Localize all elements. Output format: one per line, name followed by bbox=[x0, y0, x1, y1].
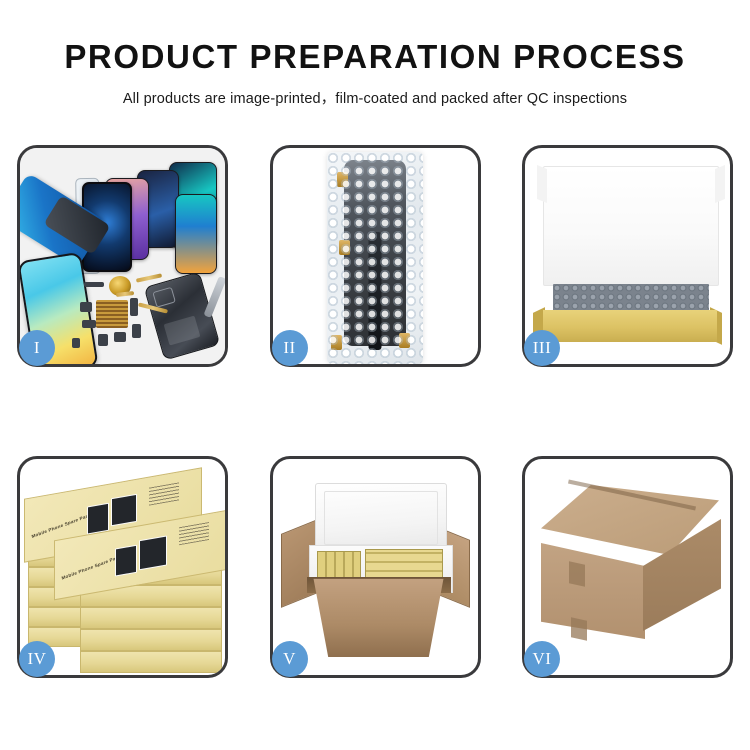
stacked-box-r3 bbox=[80, 607, 222, 629]
phone-parts-scene bbox=[20, 148, 225, 364]
box-window-upper-1 bbox=[87, 503, 109, 535]
step-badge-2: II bbox=[272, 330, 308, 366]
white-foam-lid bbox=[543, 166, 719, 286]
carton-front-face bbox=[541, 543, 645, 639]
box-label-lower: Mobile Phone Spare Parts bbox=[61, 554, 122, 581]
box-text-lines-upper bbox=[149, 482, 179, 505]
process-step-2: II bbox=[270, 145, 481, 367]
step-badge-4: IV bbox=[19, 641, 55, 677]
page-title: PRODUCT PREPARATION PROCESS bbox=[0, 40, 750, 75]
stacked-box-r5 bbox=[80, 651, 222, 673]
step-badge-5: V bbox=[272, 641, 308, 677]
bubble-wrap-overlay bbox=[327, 152, 423, 364]
carton-tape-lower bbox=[571, 617, 587, 640]
flex-cable-1 bbox=[136, 273, 162, 282]
box-window-lower-1 bbox=[115, 545, 137, 577]
flex-cable-3 bbox=[116, 291, 134, 297]
logic-board-chip bbox=[96, 300, 128, 328]
part-button bbox=[98, 334, 108, 346]
process-step-1: I bbox=[17, 145, 228, 367]
part-sim-tray bbox=[132, 324, 141, 338]
bubble-wrapped-contents bbox=[553, 284, 709, 312]
step-badge-1: I bbox=[19, 330, 55, 366]
process-step-6: VI bbox=[522, 456, 733, 678]
part-camera bbox=[80, 302, 92, 312]
carton-tape-upper bbox=[569, 561, 585, 586]
box-window-lower-2 bbox=[139, 535, 167, 570]
process-step-4: Mobile Phone Spare Parts Mobile Phone Sp… bbox=[17, 456, 228, 678]
step-3-image bbox=[525, 148, 730, 364]
process-step-3: III bbox=[522, 145, 733, 367]
inner-box-scene bbox=[525, 148, 730, 364]
infographic-page: PRODUCT PREPARATION PROCESS All products… bbox=[0, 0, 750, 750]
header: PRODUCT PREPARATION PROCESS All products… bbox=[0, 40, 750, 108]
yellow-box-front bbox=[543, 310, 717, 342]
box-window-upper-2 bbox=[111, 494, 137, 527]
page-subtitle: All products are image-printed，film-coat… bbox=[0, 87, 750, 108]
part-screw-plate bbox=[72, 338, 80, 348]
step-2-image bbox=[273, 148, 478, 364]
part-taptic bbox=[114, 332, 126, 342]
carton-body bbox=[305, 578, 453, 657]
process-step-grid: I II bbox=[17, 145, 733, 678]
step-4-image: Mobile Phone Spare Parts Mobile Phone Sp… bbox=[20, 459, 225, 675]
process-step-5: V bbox=[270, 456, 481, 678]
part-strip-1 bbox=[84, 282, 104, 287]
part-connector bbox=[130, 298, 138, 316]
part-speaker bbox=[82, 320, 96, 328]
step-badge-3: III bbox=[524, 330, 560, 366]
step-6-image bbox=[525, 459, 730, 675]
sealed-carton-scene bbox=[525, 459, 730, 675]
stacked-box-r4 bbox=[80, 629, 222, 651]
styrofoam-lid bbox=[315, 483, 447, 553]
foam-carton-scene bbox=[273, 459, 478, 675]
step-5-image bbox=[273, 459, 478, 675]
box-text-lines-lower bbox=[179, 522, 209, 545]
phone-orange bbox=[175, 194, 217, 274]
step-1-image bbox=[20, 148, 225, 364]
bubble-wrap-scene bbox=[273, 148, 478, 364]
box-stack-scene: Mobile Phone Spare Parts Mobile Phone Sp… bbox=[20, 459, 225, 675]
step-badge-6: VI bbox=[524, 641, 560, 677]
